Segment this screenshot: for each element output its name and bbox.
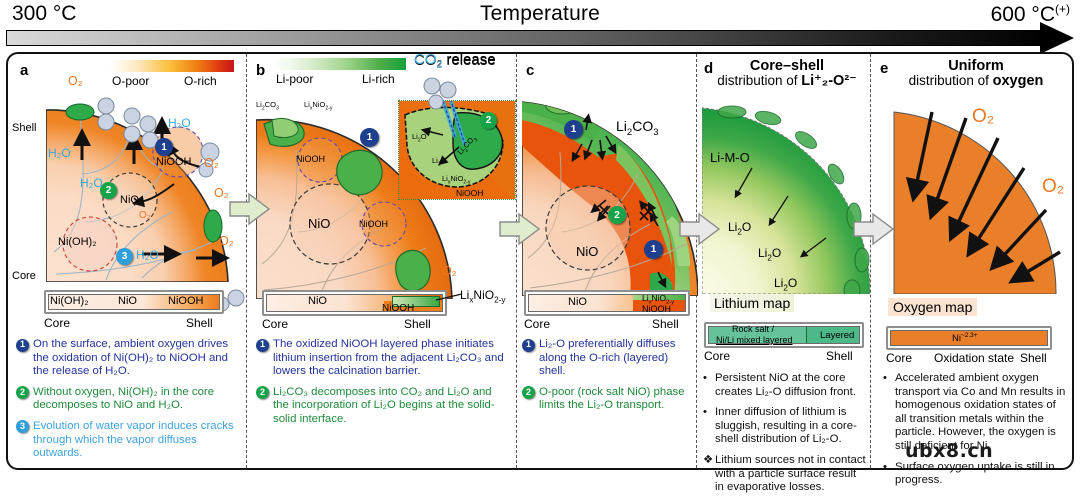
panel-e-legend-seg1: Ni~2.3+ <box>952 332 978 344</box>
panel-a-core-label: Core <box>12 270 36 282</box>
panel-d-bullet-mark-3: ❖ <box>703 454 713 468</box>
panel-d-legend-shell: Shell <box>826 349 853 363</box>
panel-a-captions: 1 On the surface, ambient oxygen drives … <box>16 338 242 468</box>
panel-c-legend-seg1: NiO <box>568 296 587 308</box>
panel-b-legend-seg1: NiO <box>308 295 327 307</box>
panel-b-colorbar-right-label: Li-rich <box>362 72 395 86</box>
panel-c: c <box>516 54 696 468</box>
panel-d-legend-seg1-line2: Ni/Li mixed layered <box>716 335 793 345</box>
panel-b-caption-text-2: Li₂CO₃ decomposes into CO₂ and Li₂O and … <box>273 386 495 425</box>
connector-arrow-b-c <box>499 212 541 246</box>
connector-arrow-c-d <box>679 212 721 246</box>
panel-e-bullet-text-2: Surface oxygen uptake is still in progre… <box>895 461 1055 487</box>
panel-a-colorbar-left-label: O-poor <box>112 74 149 88</box>
panel-d-bullet-mark-1: • <box>703 372 707 386</box>
panel-b-inset-li2o-label-2: Li2O <box>432 156 447 168</box>
panel-e-bullet-2: • Surface oxygen uptake is still in prog… <box>882 461 1066 488</box>
panel-d-bullet-text-2: Inner diffusion of lithium is sluggish, … <box>715 406 857 445</box>
panel-b-colorbar-left-label: Li-poor <box>276 72 313 86</box>
panel-b-colorbar <box>274 58 406 70</box>
panel-b-legend-callout-line <box>436 292 462 302</box>
panel-b-inset-li2o-label-1: Li2O <box>412 132 427 144</box>
panel-d-bullet-text-1: Persistent NiO at the core creates Li₂-O… <box>715 372 856 398</box>
panel-b-li2co3-label: Li2CO3 <box>256 100 279 112</box>
panel-d-limo-label: Li-M-O <box>710 150 750 165</box>
panel-a-o2-label-5: O₂ <box>139 210 151 221</box>
panel-c-li2co3-label: Li2CO3 <box>616 118 659 138</box>
panel-a-legend-seg3: NiOOH <box>168 295 203 307</box>
panel-d: d Core–shell distribution of Li⁺₂-O²⁻ <box>696 54 870 468</box>
panel-c-caption-text-2: O-poor (rock salt NiO) phase limits the … <box>539 386 685 412</box>
temperature-axis-title: Temperature <box>0 2 1080 26</box>
panel-d-bullet-1: • Persistent NiO at the core creates Li₂… <box>702 372 868 399</box>
panel-a-caption-badge-3: 3 <box>16 420 29 433</box>
panel-a-molecules <box>60 92 246 322</box>
panel-b-caption-badge-1: 1 <box>256 339 269 352</box>
temperature-right-superscript: (+) <box>1055 2 1070 16</box>
panel-a-caption-1: 1 On the surface, ambient oxygen drives … <box>16 338 242 379</box>
panel-d-bullet-2: • Inner diffusion of lithium is sluggish… <box>702 406 868 447</box>
panel-e-bullet-mark-2: • <box>883 461 887 475</box>
panel-a: a O-poor O-rich <box>8 54 246 468</box>
panel-a-o2-label-4: O₂ <box>219 234 234 248</box>
panel-d-li2o-label-3: Li2O <box>774 276 797 292</box>
panel-c-caption-badge-1: 1 <box>522 339 535 352</box>
panel-a-colorbar-right-label: O-rich <box>184 74 217 88</box>
panel-b-caption-text-1: The oxidized NiOOH layered phase initiat… <box>273 338 504 377</box>
panel-d-particle-wedge <box>702 104 870 294</box>
panel-b-niooh-label-2: NiOOH <box>359 219 388 229</box>
panel-e-particle-wedge <box>874 102 1070 294</box>
panel-a-o2-label-3: O₂ <box>214 186 229 200</box>
panel-a-h2o-label-3: H₂O <box>168 116 191 130</box>
panel-a-caption-badge-1: 1 <box>16 339 29 352</box>
panel-c-caption-1: 1 Li₂-O preferentially diffuses along th… <box>522 338 690 379</box>
panel-d-title: Core–shell distribution of Li⁺₂-O²⁻ <box>708 59 866 88</box>
panel-c-legend-core: Core <box>524 317 550 331</box>
panel-a-caption-text-1: On the surface, ambient oxygen drives th… <box>33 338 228 377</box>
panel-a-badge-2: 2 <box>100 182 117 199</box>
figure-root: 300 °C Temperature 600 °C(+) a O-poor O-… <box>0 0 1080 474</box>
panel-a-legend-seg1: Ni(OH)₂ <box>50 295 88 307</box>
panel-a-o2-label-2: O₂ <box>204 156 219 170</box>
panel-e-title: Uniform distribution of oxygen <box>888 59 1064 88</box>
panel-d-bullets: • Persistent NiO at the core creates Li₂… <box>702 372 868 502</box>
panel-a-shell-label: Shell <box>12 122 36 134</box>
panel-e-legend-axis: Oxidation state <box>934 351 1014 365</box>
panel-b-lixnio2y-label: LixNiO2-y <box>304 100 332 112</box>
panel-a-caption-3: 3 Evolution of water vapor induces crack… <box>16 420 242 461</box>
panel-b-letter: b <box>256 62 265 79</box>
connector-arrow-a-b <box>229 192 271 226</box>
panel-b-legend-callout: LixNiO2-y <box>460 288 505 304</box>
panel-a-caption-2: 2 Without oxygen, Ni(OH)₂ in the core de… <box>16 386 242 413</box>
panel-c-badge-1a: 1 <box>564 120 583 139</box>
panel-a-caption-text-2: Without oxygen, Ni(OH)₂ in the core deco… <box>33 386 214 412</box>
connector-arrow-d-e <box>853 212 895 246</box>
panel-a-badge-3: 3 <box>116 248 133 265</box>
panel-c-legend-shell: Shell <box>652 317 679 331</box>
panel-e-title-line2-pre: distribution of <box>909 73 993 88</box>
panel-b-caption-2: 2 Li₂CO₃ decomposes into CO₂ and Li₂O an… <box>256 386 508 427</box>
panel-c-badge-1b: 1 <box>644 240 663 259</box>
panel-b-inset-niooh-label: NiOOH <box>456 188 483 198</box>
panel-a-h2o-label-1: H₂O <box>48 146 71 160</box>
panel-b: b Li-poor Li-rich CO₂ release CO2 releas… <box>246 54 516 468</box>
panel-d-title-line2-bold: Li⁺₂-O²⁻ <box>801 73 857 89</box>
panel-e-legend-shell: Shell <box>1020 351 1047 365</box>
panel-b-inset-lixnio2y-label: LixNiO2-y <box>442 174 470 186</box>
panel-b-legend-core: Core <box>262 317 288 331</box>
panel-e-title-line2-bold: oxygen <box>993 73 1044 89</box>
panel-c-caption-text-1: Li₂-O preferentially diffuses along the … <box>539 338 676 377</box>
panel-a-colorbar <box>110 60 234 72</box>
panel-b-phase-legend <box>262 290 447 316</box>
panel-a-nioh2-label: Ni(OH)₂ <box>58 236 96 248</box>
panel-b-co2-release-text: CO2 release <box>414 51 496 71</box>
temperature-gradient-bar <box>6 30 1052 46</box>
panel-e: e Uniform distribution of oxygen <box>870 54 1072 468</box>
panel-c-caption-2: 2 O-poor (rock salt NiO) phase limits th… <box>522 386 690 413</box>
panel-d-li2o-label-1: Li2O <box>728 220 751 236</box>
panel-d-map-label: Lithium map <box>710 294 794 312</box>
panel-a-legend-seg2: NiO <box>118 295 137 307</box>
panel-e-o2-label-2: O₂ <box>1042 176 1064 198</box>
panel-d-legend-core: Core <box>704 349 730 363</box>
panel-d-title-line2-pre: distribution of <box>717 73 801 88</box>
panel-e-map-label: Oxygen map <box>888 298 977 316</box>
panel-c-badge-2: 2 <box>608 206 626 224</box>
panel-c-nio-label: NiO <box>576 244 598 259</box>
panel-b-captions: 1 The oxidized NiOOH layered phase initi… <box>256 338 508 434</box>
panel-a-legend-shell: Shell <box>186 316 213 330</box>
panel-b-legend-shell: Shell <box>404 317 431 331</box>
panel-c-legend-seg3: NiOOH <box>642 304 671 314</box>
panel-a-nio-label: NiO <box>120 194 139 206</box>
panel-b-nio-label: NiO <box>308 216 330 231</box>
panel-d-bullet-3: ❖ Lithium sources not in contact with a … <box>702 454 868 495</box>
panel-d-li2o-label-2: Li2O <box>758 246 781 262</box>
panel-c-caption-badge-2: 2 <box>522 386 535 399</box>
panel-c-letter: c <box>526 62 534 79</box>
panel-a-legend-core: Core <box>44 316 70 330</box>
panel-b-o2-label: O₂ <box>442 264 457 278</box>
panel-b-niooh-label-1: NiOOH <box>296 154 325 164</box>
temperature-arrow-head <box>1040 22 1074 54</box>
panel-a-letter: a <box>20 62 28 79</box>
panel-c-particle-wedge <box>522 96 698 296</box>
watermark: ubx8.cn <box>905 440 993 462</box>
panel-b-co2-molecules <box>418 72 478 112</box>
panel-b-badge-1: 1 <box>360 128 379 147</box>
panel-d-legend-seg1-line1: Rock salt / <box>732 324 774 334</box>
panel-a-badge-1: 1 <box>155 138 173 156</box>
panel-d-bullet-mark-2: • <box>703 406 707 420</box>
panel-e-bullet-mark-1: • <box>883 372 887 386</box>
panel-a-niooh-label: NiOOH <box>156 156 191 168</box>
panel-a-caption-badge-2: 2 <box>16 386 29 399</box>
panel-d-legend-seg2: Layered <box>820 330 854 341</box>
panel-e-legend-core: Core <box>886 351 912 365</box>
panel-a-h2o-label-4: H₂O <box>136 248 159 262</box>
panel-e-o2-label-1: O₂ <box>972 106 994 128</box>
panel-a-caption-text-3: Evolution of water vapor induces cracks … <box>33 420 234 459</box>
panel-b-caption-1: 1 The oxidized NiOOH layered phase initi… <box>256 338 508 379</box>
panel-b-inset-badge-2: 2 <box>480 112 497 129</box>
panel-a-o2-label-1: O₂ <box>68 74 83 88</box>
figure-frame: a O-poor O-rich <box>6 52 1074 470</box>
panel-e-bullets: • Accelerated ambient oxygen transport v… <box>882 372 1066 495</box>
panel-b-legend-seg2: NiOOH <box>382 303 414 314</box>
panel-c-captions: 1 Li₂-O preferentially diffuses along th… <box>522 338 690 420</box>
panel-b-caption-badge-2: 2 <box>256 386 269 399</box>
